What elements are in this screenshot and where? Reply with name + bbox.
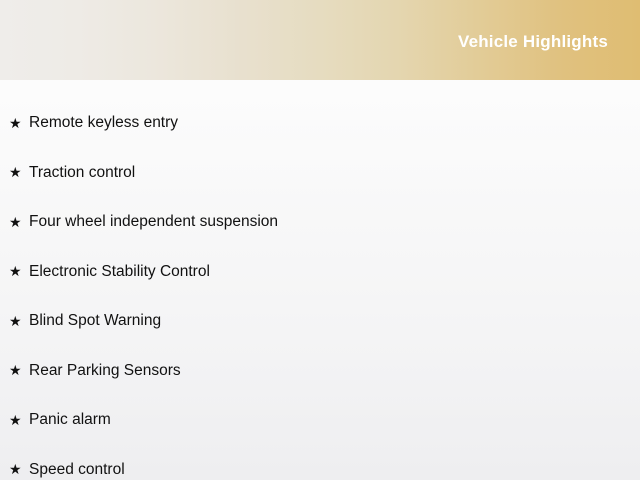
list-item: ★ Traction control <box>0 148 640 198</box>
list-item-label: Four wheel independent suspension <box>29 214 278 230</box>
star-icon: ★ <box>9 413 29 427</box>
page-header-banner: Vehicle Highlights <box>0 0 640 80</box>
page-title: Vehicle Highlights <box>458 33 608 50</box>
star-icon: ★ <box>9 165 29 179</box>
list-item-label: Panic alarm <box>29 412 111 428</box>
list-item: ★ Remote keyless entry <box>0 98 640 148</box>
vehicle-highlights-list: ★ Remote keyless entry ★ Traction contro… <box>0 80 640 480</box>
list-item: ★ Electronic Stability Control <box>0 247 640 297</box>
star-icon: ★ <box>9 462 29 476</box>
star-icon: ★ <box>9 363 29 377</box>
star-icon: ★ <box>9 264 29 278</box>
star-icon: ★ <box>9 215 29 229</box>
list-item: ★ Blind Spot Warning <box>0 296 640 346</box>
list-item: ★ Four wheel independent suspension <box>0 197 640 247</box>
star-icon: ★ <box>9 116 29 130</box>
list-item-label: Traction control <box>29 165 135 181</box>
list-item-label: Electronic Stability Control <box>29 264 210 280</box>
star-icon: ★ <box>9 314 29 328</box>
list-item-label: Blind Spot Warning <box>29 313 161 329</box>
list-item-label: Remote keyless entry <box>29 115 178 131</box>
list-item-label: Speed control <box>29 462 125 478</box>
list-item-label: Rear Parking Sensors <box>29 363 181 379</box>
vehicle-highlights-page: Vehicle Highlights ★ Remote keyless entr… <box>0 0 640 480</box>
list-item: ★ Rear Parking Sensors <box>0 346 640 396</box>
list-item: ★ Speed control <box>0 445 640 480</box>
list-item: ★ Panic alarm <box>0 395 640 445</box>
